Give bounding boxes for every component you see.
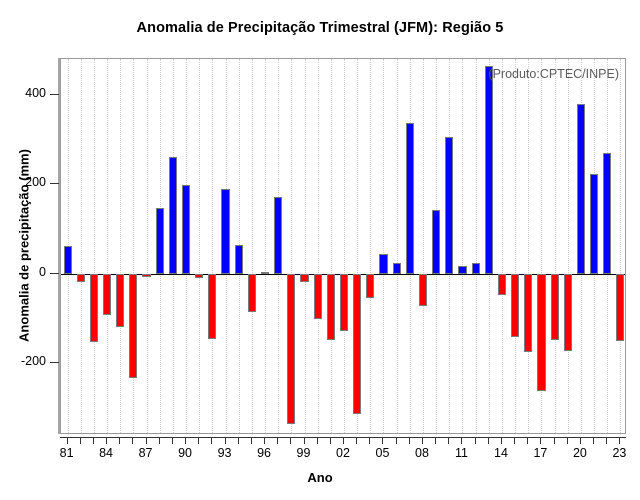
bar-2019 <box>564 274 572 351</box>
bar-2008 <box>419 274 427 306</box>
x-tick <box>409 437 410 444</box>
gridline <box>81 59 82 433</box>
bar-2013 <box>485 66 493 274</box>
x-tick <box>514 437 515 444</box>
x-tick-label: 87 <box>131 446 161 460</box>
bar-1986 <box>129 274 137 378</box>
x-tick <box>580 437 581 444</box>
x-tick-label: 17 <box>525 446 555 460</box>
gridline <box>555 59 556 433</box>
x-tick <box>225 437 226 444</box>
y-tick <box>50 362 59 363</box>
bar-1984 <box>103 274 111 315</box>
x-tick-label: 90 <box>170 446 200 460</box>
gridline <box>515 59 516 433</box>
gridline <box>94 59 95 433</box>
y-tick <box>50 273 59 274</box>
x-axis-title: Ano <box>0 470 640 485</box>
x-tick <box>567 437 568 444</box>
bar-2002 <box>340 274 348 331</box>
bar-2023 <box>616 274 624 341</box>
bar-2009 <box>432 210 440 274</box>
x-tick <box>501 437 502 444</box>
x-tick-label: 81 <box>52 446 82 460</box>
gridline <box>620 59 621 433</box>
gridline <box>344 59 345 433</box>
y-tick-label: 400 <box>0 86 46 100</box>
x-tick <box>80 437 81 444</box>
x-tick-label: 14 <box>486 446 516 460</box>
x-tick <box>304 437 305 444</box>
bar-1991 <box>195 274 203 278</box>
x-tick <box>277 437 278 444</box>
x-tick <box>593 437 594 444</box>
x-tick-label: 93 <box>210 446 240 460</box>
page-title: Anomalia de Precipitação Trimestral (JFM… <box>0 20 640 36</box>
bar-1987 <box>142 274 150 278</box>
x-tick <box>422 437 423 444</box>
x-tick <box>619 437 620 444</box>
bar-2000 <box>314 274 322 319</box>
bar-2010 <box>445 137 453 274</box>
bar-2021 <box>590 174 598 273</box>
x-tick-label: 96 <box>249 446 279 460</box>
x-tick <box>290 437 291 444</box>
plot-inner <box>61 59 625 433</box>
gridline <box>199 59 200 433</box>
x-tick <box>93 437 94 444</box>
bar-1982 <box>77 274 85 282</box>
x-tick <box>264 437 265 444</box>
x-tick <box>382 437 383 444</box>
gridline <box>568 59 569 433</box>
gridline <box>252 59 253 433</box>
x-tick <box>475 437 476 444</box>
x-tick <box>554 437 555 444</box>
x-tick <box>330 437 331 444</box>
x-tick <box>461 437 462 444</box>
bar-2005 <box>379 254 387 274</box>
gridline <box>318 59 319 433</box>
x-tick <box>238 437 239 444</box>
bar-1992 <box>208 274 216 339</box>
gridline <box>423 59 424 433</box>
y-tick <box>50 183 59 184</box>
chart-root: Anomalia de Precipitação Trimestral (JFM… <box>0 0 640 500</box>
x-tick-label: 84 <box>91 446 121 460</box>
bar-1983 <box>90 274 98 342</box>
bar-1988 <box>156 208 164 274</box>
bar-2001 <box>327 274 335 340</box>
x-tick <box>396 437 397 444</box>
gridline <box>383 59 384 433</box>
bar-2022 <box>603 153 611 274</box>
gridline <box>502 59 503 433</box>
bar-2018 <box>551 274 559 340</box>
x-tick <box>146 437 147 444</box>
gridline <box>370 59 371 433</box>
x-tick <box>448 437 449 444</box>
bar-2016 <box>524 274 532 352</box>
bar-1999 <box>300 274 308 282</box>
x-tick <box>159 437 160 444</box>
x-tick <box>67 437 68 444</box>
x-tick <box>317 437 318 444</box>
x-tick-label: 20 <box>565 446 595 460</box>
bar-1997 <box>274 197 282 274</box>
bar-1990 <box>182 185 190 274</box>
bar-2006 <box>393 263 401 274</box>
x-tick <box>435 437 436 444</box>
y-axis-title: Anomalia de precipitação (mm) <box>17 116 32 376</box>
bar-2003 <box>353 274 361 414</box>
bar-1996 <box>261 272 269 274</box>
gridline <box>528 59 529 433</box>
gridline <box>331 59 332 433</box>
bar-1994 <box>235 245 243 274</box>
bar-2017 <box>537 274 545 391</box>
bar-2012 <box>472 263 480 274</box>
gridline <box>265 59 266 433</box>
gridline <box>147 59 148 433</box>
gridline <box>462 59 463 433</box>
x-tick-label: 99 <box>289 446 319 460</box>
bar-2014 <box>498 274 506 295</box>
x-tick <box>540 437 541 444</box>
x-tick <box>251 437 252 444</box>
y-tick <box>50 94 59 95</box>
x-tick <box>185 437 186 444</box>
x-tick <box>527 437 528 444</box>
bar-2015 <box>511 274 519 337</box>
x-tick-label: 02 <box>328 446 358 460</box>
plot-area: (Produto:CPTEC/INPE) <box>60 58 626 434</box>
source-annotation: (Produto:CPTEC/INPE) <box>488 67 619 81</box>
x-tick <box>211 437 212 444</box>
bar-1981 <box>64 246 72 274</box>
bar-1998 <box>287 274 295 424</box>
x-tick <box>356 437 357 444</box>
bar-1985 <box>116 274 124 327</box>
gridline <box>107 59 108 433</box>
x-tick <box>198 437 199 444</box>
x-tick <box>172 437 173 444</box>
x-tick <box>119 437 120 444</box>
x-tick-label: 11 <box>446 446 476 460</box>
bar-2011 <box>458 266 466 274</box>
x-tick-label: 05 <box>367 446 397 460</box>
bar-1995 <box>248 274 256 312</box>
gridline <box>476 59 477 433</box>
bar-1993 <box>221 189 229 274</box>
bar-2004 <box>366 274 374 299</box>
gridline <box>305 59 306 433</box>
x-tick <box>132 437 133 444</box>
gridline <box>212 59 213 433</box>
gridline <box>397 59 398 433</box>
x-tick <box>488 437 489 444</box>
x-tick-label: 23 <box>604 446 634 460</box>
gridline <box>120 59 121 433</box>
x-tick <box>106 437 107 444</box>
bar-2007 <box>406 123 414 274</box>
bar-2020 <box>577 104 585 274</box>
bar-1989 <box>169 157 177 273</box>
x-tick <box>369 437 370 444</box>
x-tick <box>343 437 344 444</box>
x-tick-label: 08 <box>407 446 437 460</box>
x-tick <box>606 437 607 444</box>
